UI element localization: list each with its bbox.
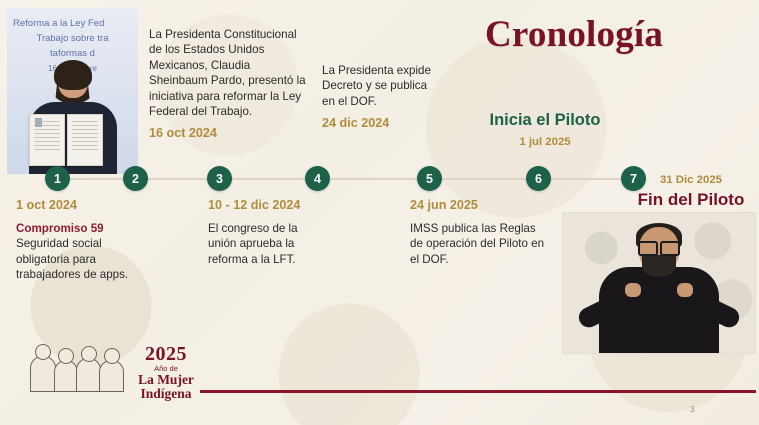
document-right-page — [67, 114, 103, 166]
timeline-node-3[interactable]: 3 — [207, 166, 232, 191]
event-5-date: 24 jun 2025 — [410, 197, 546, 213]
document-text-lines — [72, 121, 98, 151]
event-block-7: 31 Dic 2025 Fin del Piloto — [628, 172, 754, 210]
event-2-date: 16 oct 2024 — [149, 125, 309, 141]
page-number: 3 — [690, 404, 695, 414]
event-block-6: Inicia el Piloto 1 jul 2025 — [470, 110, 620, 150]
event-4-body: La Presidenta expide Decreto y se public… — [322, 63, 434, 109]
event-4-date: 24 dic 2024 — [322, 115, 434, 131]
timeline-node-number: 6 — [535, 172, 542, 186]
woman-figure-4 — [99, 360, 124, 392]
logo-line-1: La Mujer — [130, 373, 202, 387]
photo-banner-line-2: Trabajo sobre tra — [7, 31, 138, 46]
timeline-node-number: 5 — [426, 172, 433, 186]
interpreter-beard — [642, 255, 676, 277]
photo-banner-line-3: taformas d — [7, 46, 138, 61]
event-block-1: 1 oct 2024 Compromiso 59 Seguridad socia… — [16, 197, 134, 283]
glasses-icon — [638, 241, 680, 252]
timeline-node-number: 4 — [314, 172, 321, 186]
photo-banner-line-1: Reforma a la Ley Fed — [7, 16, 138, 31]
document-left-page — [29, 114, 65, 166]
event-3-date: 10 - 12 dic 2024 — [208, 197, 326, 213]
page-title: Cronología — [485, 16, 663, 53]
timeline-node-number: 1 — [54, 172, 61, 186]
timeline-node-number: 2 — [132, 172, 139, 186]
footer-divider — [200, 390, 756, 393]
president-figure — [7, 62, 138, 174]
event-6-heading: Inicia el Piloto — [470, 110, 620, 130]
logo-text: 2025 Año de La Mujer Indígena — [130, 344, 202, 401]
indigenous-women-illustration — [26, 344, 126, 392]
president-signing-photo: Reforma a la Ley Fed Trabajo sobre tra t… — [7, 8, 138, 174]
woman-figure-3 — [76, 358, 101, 392]
event-block-4: La Presidenta expide Decreto y se public… — [322, 63, 434, 131]
event-1-heading: Compromiso 59 — [16, 222, 104, 235]
logo-line-2: Indígena — [130, 387, 202, 401]
event-3-body: El congreso de la unión aprueba la refor… — [208, 221, 326, 267]
event-1-date: 1 oct 2024 — [16, 197, 134, 213]
hair-shape-front — [54, 60, 92, 90]
year-of-indigenous-woman-logo: 2025 Año de La Mujer Indígena — [26, 344, 201, 392]
woman-figure-1 — [30, 356, 56, 392]
sign-language-interpreter-video — [562, 212, 756, 354]
event-7-heading: Fin del Piloto — [628, 190, 754, 210]
timeline-node-2[interactable]: 2 — [123, 166, 148, 191]
event-5-body: IMSS publica las Reglas de operación del… — [410, 221, 546, 267]
event-1-body: Seguridad social obligatoria para trabaj… — [16, 237, 128, 281]
timeline-node-number: 3 — [216, 172, 223, 186]
timeline-node-5[interactable]: 5 — [417, 166, 442, 191]
timeline-node-1[interactable]: 1 — [45, 166, 70, 191]
event-1-text: Compromiso 59 Seguridad social obligator… — [16, 221, 134, 283]
timeline-node-4[interactable]: 4 — [305, 166, 330, 191]
slide-canvas: Cronología Reforma a la Ley Fed Trabajo … — [0, 0, 759, 425]
interpreter-hand-right — [677, 283, 693, 297]
woman-figure-2 — [54, 360, 78, 392]
event-7-date: 31 Dic 2025 — [628, 172, 754, 188]
event-2-body: La Presidenta Constitucional de los Esta… — [149, 27, 309, 119]
event-6-date: 1 jul 2025 — [470, 134, 620, 150]
timeline-node-6[interactable]: 6 — [526, 166, 551, 191]
document-text-lines — [34, 121, 60, 151]
logo-year: 2025 — [130, 344, 202, 364]
event-block-5: 24 jun 2025 IMSS publica las Reglas de o… — [410, 197, 546, 267]
interpreter-hand-left — [625, 283, 641, 297]
event-block-2: La Presidenta Constitucional de los Esta… — [149, 27, 309, 141]
event-block-3: 10 - 12 dic 2024 El congreso de la unión… — [208, 197, 326, 267]
